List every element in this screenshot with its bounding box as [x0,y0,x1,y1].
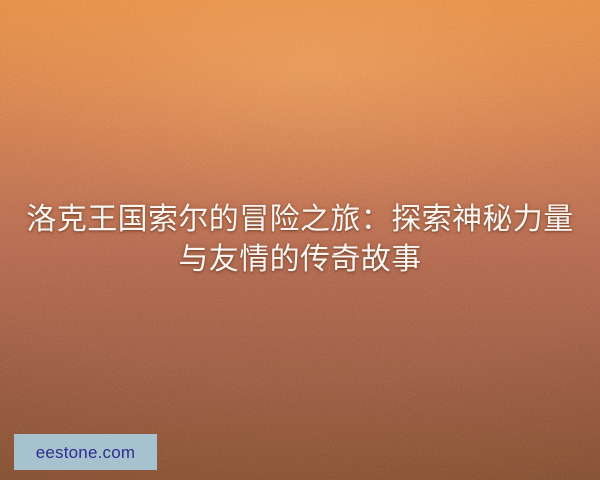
page-title: 洛克王国索尔的冒险之旅：探索神秘力量与友情的传奇故事 [0,200,600,280]
watermark-badge: eestone.com [14,434,157,470]
watermark-label: eestone.com [36,444,136,461]
poster-canvas: 洛克王国索尔的冒险之旅：探索神秘力量与友情的传奇故事 eestone.com [0,0,600,480]
